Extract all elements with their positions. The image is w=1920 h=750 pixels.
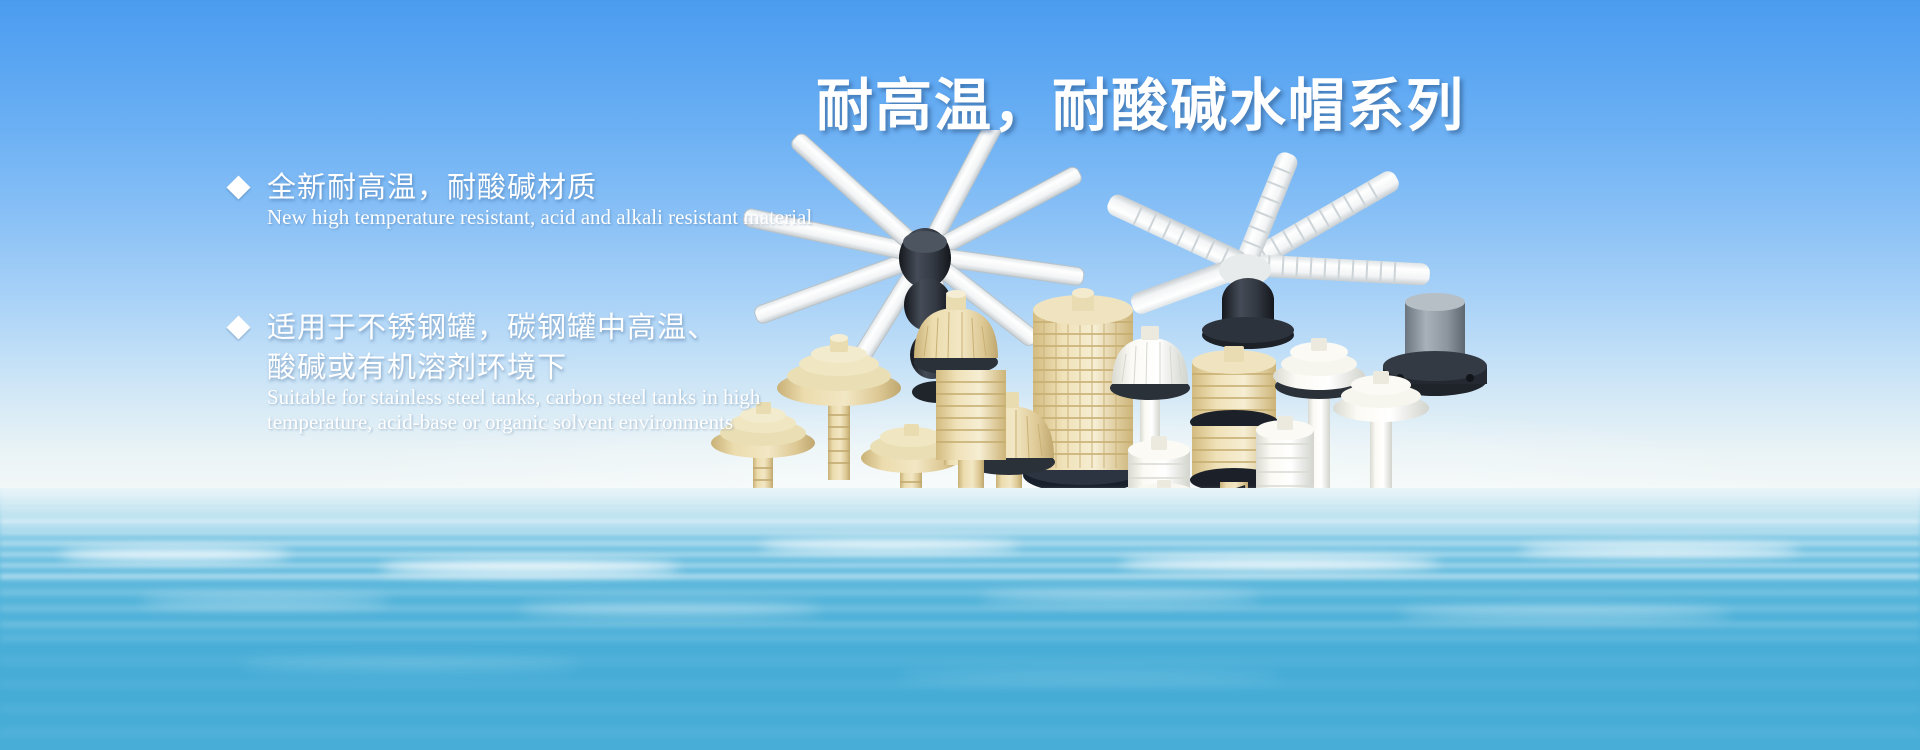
- product-banner: 耐高温，耐酸碱水帽系列 全新耐高温，耐酸碱材质 New high tempera…: [0, 0, 1920, 750]
- bullet-item-1: 全新耐高温，耐酸碱材质 New high temperature resista…: [230, 168, 812, 230]
- bullet-2-en-text: Suitable for stainless steel tanks, carb…: [267, 385, 760, 435]
- bullet-2-cn-text: 适用于不锈钢罐，碳钢罐中高温、 酸碱或有机溶剂环境下: [267, 308, 717, 388]
- water-highlight: [140, 596, 390, 606]
- product-group: [700, 130, 1490, 550]
- water-highlight: [980, 592, 1260, 602]
- diamond-bullet-icon: [226, 315, 250, 339]
- water-highlight: [1120, 556, 1440, 570]
- page-title: 耐高温，耐酸碱水帽系列: [816, 60, 1516, 142]
- water-highlight: [520, 604, 820, 615]
- water-highlight: [380, 560, 680, 575]
- diamond-bullet-icon: [226, 175, 250, 199]
- water-highlight: [1520, 544, 1800, 556]
- bullet-item-2: 适用于不锈钢罐，碳钢罐中高温、 酸碱或有机溶剂环境下 Suitable for …: [230, 308, 760, 435]
- bullet-1-en-text: New high temperature resistant, acid and…: [267, 205, 812, 230]
- bullet-1-cn-text: 全新耐高温，耐酸碱材质: [267, 168, 597, 208]
- water-highlight: [1400, 608, 1730, 619]
- water-highlight: [760, 540, 1020, 552]
- water-highlight: [900, 672, 1280, 681]
- cap-white-c: [1333, 371, 1429, 505]
- product-illustration: [700, 130, 1490, 550]
- cylinder-white-b: [1256, 416, 1314, 496]
- hub-black-right: [1202, 278, 1294, 349]
- water-background: [0, 488, 1920, 750]
- water-highlight: [240, 660, 580, 669]
- water-highlight: [60, 548, 290, 561]
